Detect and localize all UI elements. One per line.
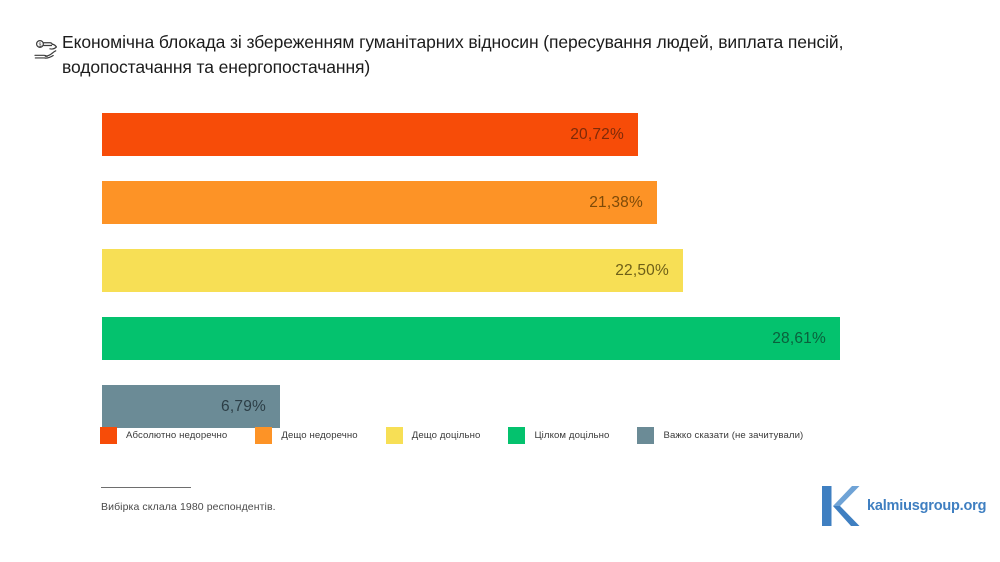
legend-swatch-icon	[508, 427, 525, 444]
legend-item-somewhat-inappropriate[interactable]: Дещо недоречно	[255, 427, 357, 444]
legend-swatch-icon	[386, 427, 403, 444]
bar-row: 20,72%	[102, 113, 902, 156]
svg-text:$: $	[39, 43, 42, 49]
legend-item-fully-appropriate[interactable]: Цілком доцільно	[508, 427, 609, 444]
legend-label: Дещо недоречно	[281, 430, 357, 441]
bar-value-label: 28,61%	[772, 330, 840, 348]
letter-k-logo-icon	[818, 484, 860, 528]
legend-label: Цілком доцільно	[534, 430, 609, 441]
footer-divider	[101, 487, 191, 488]
brand-logo[interactable]: kalmiusgroup.org	[818, 484, 986, 528]
bar-fully-appropriate[interactable]: 28,61%	[102, 317, 840, 360]
legend-item-hard-to-say[interactable]: Важко сказати (не зачитували)	[637, 427, 803, 444]
sample-size-note: Вибірка склала 1980 респондентів.	[101, 501, 276, 513]
bar-somewhat-inappropriate[interactable]: 21,38%	[102, 181, 657, 224]
legend-item-absolutely-inappropriate[interactable]: Абсолютно недоречно	[100, 427, 227, 444]
bar-row: 6,79%	[102, 385, 902, 428]
bar-row: 21,38%	[102, 181, 902, 224]
bar-row: 28,61%	[102, 317, 902, 360]
bar-row: 22,50%	[102, 249, 902, 292]
bar-absolutely-inappropriate[interactable]: 20,72%	[102, 113, 638, 156]
bar-value-label: 22,50%	[615, 262, 683, 280]
hand-giving-coin-icon: $	[0, 30, 62, 71]
slide-canvas: $ Економічна блокада зі збереженням гума…	[0, 0, 1000, 562]
legend-swatch-icon	[100, 427, 117, 444]
bar-hard-to-say[interactable]: 6,79%	[102, 385, 280, 428]
legend-swatch-icon	[637, 427, 654, 444]
bar-value-label: 6,79%	[221, 398, 280, 416]
legend-swatch-icon	[255, 427, 272, 444]
legend: Абсолютно недоречно Дещо недоречно Дещо …	[100, 427, 831, 444]
legend-label: Абсолютно недоречно	[126, 430, 227, 441]
bar-value-label: 20,72%	[570, 126, 638, 144]
bar-chart: 20,72% 21,38% 22,50% 28,61% 6,79%	[102, 113, 902, 403]
bar-value-label: 21,38%	[589, 194, 657, 212]
legend-label: Важко сказати (не зачитували)	[663, 430, 803, 441]
legend-label: Дещо доцільно	[412, 430, 481, 441]
header: $ Економічна блокада зі збереженням гума…	[0, 30, 1000, 80]
page-title: Економічна блокада зі збереженням гумані…	[62, 30, 942, 80]
bar-somewhat-appropriate[interactable]: 22,50%	[102, 249, 683, 292]
logo-text: kalmiusgroup.org	[867, 498, 986, 514]
legend-item-somewhat-appropriate[interactable]: Дещо доцільно	[386, 427, 481, 444]
